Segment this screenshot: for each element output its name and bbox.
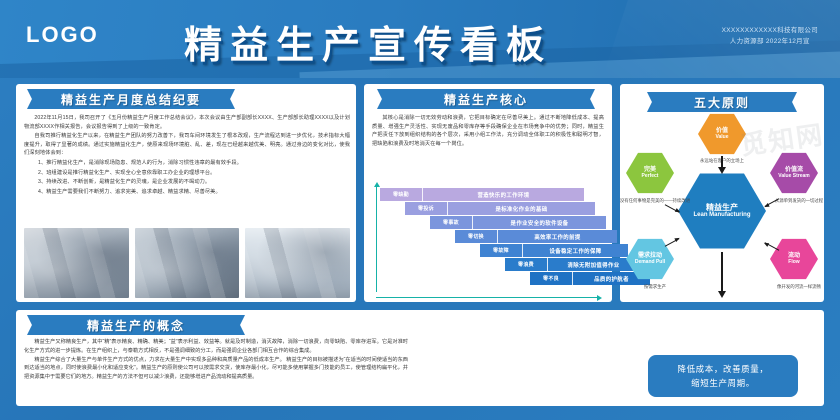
core-body: 其核心是消除一切无效劳动和浪费，它把目标确定在尽善尽美上。通过不断地降低成本、提… — [372, 114, 604, 149]
company-name: XXXXXXXXXXXX科技有限公司 — [722, 25, 818, 36]
conclusion-text: 降低成本，改善质量，缩短生产周期。 — [677, 362, 768, 390]
company-credit: XXXXXXXXXXXX科技有限公司 人力资源部 2022年12月宣 — [722, 25, 818, 47]
summary-paragraph: 2022年11月15日，我司召开了《五月份精益生产月度工作总结会议》，本次会议由… — [24, 114, 350, 131]
concept-paragraph: 精益生产又称精良生产，其中“精”表示精良、精确、精美；“益”表示利益、效益等。就… — [24, 338, 408, 356]
hex-center-cn: 精益生产 — [706, 203, 738, 212]
hex-value-stream-en: Value Stream — [778, 174, 809, 180]
flow-row-key: 零缺勤 — [380, 188, 422, 201]
hex-center-lean: 精益生产 Lean Manufacturing — [678, 172, 766, 250]
summary-list-item: 1、推行精益化生产，是消除现场隐患、规范人的行为，消除习惯性违章的最有效手段。 — [24, 159, 350, 168]
photo-gallery — [24, 228, 350, 298]
hex-value-en: Value — [715, 135, 728, 141]
caption-flow: 像开发的河流一样流畅 — [760, 284, 838, 291]
hex-value: 价值 Value — [698, 113, 746, 155]
flow-axis-vertical — [376, 186, 377, 292]
flow-row: 零事故是作业安全的软件设备 — [430, 216, 606, 229]
hex-perfect-en: Perfect — [642, 174, 659, 180]
flow-row-key: 零不良 — [530, 272, 572, 285]
arrow-value-to-center — [721, 156, 723, 168]
principles-heading: 五大原则 — [656, 92, 788, 112]
poster-board: LOGO 精益生产宣传看板 XXXXXXXXXXXX科技有限公司 人力资源部 2… — [0, 0, 840, 420]
arrow-demand-pull-to-center — [665, 238, 680, 246]
flow-row-key: 零切换 — [455, 230, 497, 243]
flow-axis-horizontal — [376, 297, 598, 298]
flow-row-value: 营造快乐的工作环境 — [422, 188, 584, 201]
hex-center-en: Lean Manufacturing — [693, 212, 750, 219]
flow-row: 零投诉是标准化作业的基础 — [405, 202, 595, 215]
summary-list-item: 2、班组建设是推行精益化生产、实现全心全意依靠职工办企业的理想平台。 — [24, 169, 350, 178]
concept-paragraph: 精益生产综合了大量生产与单件生产方式的优点，力求在大量生产中实现多品种和高质量产… — [24, 356, 408, 382]
flow-row-key: 零事故 — [430, 216, 472, 229]
flow-row: 零浪费清除无附加值得作业 — [505, 258, 639, 271]
poster-header: LOGO 精益生产宣传看板 XXXXXXXXXXXX科技有限公司 人力资源部 2… — [0, 0, 840, 78]
arrow-flow-to-center — [765, 242, 780, 250]
flow-row-value: 高效率工作的前提 — [497, 230, 617, 243]
caption-perfect: 没有任何事物是完美的——持续改进 — [616, 198, 694, 205]
summary-body: 2022年11月15日，我司召开了《五月份精益生产月度工作总结会议》，本次会议由… — [24, 114, 350, 197]
flow-row: 零故障设备稳定工作的保障 — [480, 244, 628, 257]
summary-list-item: 4、精益生产需要我们不断努力、追求完美、追求卓越、精益求精、尽善尽美。 — [24, 188, 350, 197]
arrow-perfect-to-center — [665, 204, 680, 212]
core-heading: 精益生产核心 — [386, 89, 586, 109]
summary-paragraph: 自我司推行精益化生产以来，在精益生产团队的努力改善下，我司车间环境发生了根本改观… — [24, 132, 350, 158]
hex-value-stream: 价值流 Value Stream — [770, 152, 818, 194]
flow-row: 零切换高效率工作的前提 — [455, 230, 617, 243]
flow-row-value: 是标准化作业的基础 — [447, 202, 595, 215]
department-date: 人力资源部 2022年12月宣 — [722, 36, 818, 47]
flow-row: 零缺勤营造快乐的工作环境 — [380, 188, 584, 201]
page-title: 精益生产宣传看板 — [184, 14, 552, 69]
arrow-center-to-conclusion — [721, 252, 723, 292]
flow-row-value: 设备稳定工作的保障 — [522, 244, 628, 257]
summary-list-item: 3、持续改进、不断创新，是精益化生产的灵魂，是企业发展的不竭动力。 — [24, 178, 350, 187]
hex-flow-en: Flow — [788, 260, 799, 266]
flow-row-key: 零浪费 — [505, 258, 547, 271]
caption-demand-pull: 按需求生产 — [616, 284, 694, 291]
flow-row-key: 零投诉 — [405, 202, 447, 215]
flow-row-key: 零故障 — [480, 244, 522, 257]
concept-heading: 精益生产的概念 — [36, 315, 236, 335]
conclusion-box: 降低成本，改善质量，缩短生产周期。 — [648, 355, 798, 397]
handshake-meeting-photo — [24, 228, 129, 298]
hex-demand-pull-en: Demand Pull — [635, 260, 665, 266]
logo: LOGO — [26, 22, 99, 48]
flow-row-value: 是作业安全的软件设备 — [472, 216, 606, 229]
conference-room-photo — [245, 228, 350, 298]
concept-body-left: 精益生产又称精良生产，其中“精”表示精良、精确、精美；“益”表示利益、效益等。就… — [24, 338, 408, 382]
blueprint-teamwork-photo — [135, 228, 240, 298]
five-principles-diagram: 精益生产 Lean Manufacturing 价值 Value 完美 Perf… — [620, 110, 824, 306]
core-paragraph: 其核心是消除一切无效劳动和浪费，它把目标确定在尽善尽美上。通过不断地降低成本、提… — [372, 114, 604, 148]
hex-flow: 流动 Flow — [770, 238, 818, 280]
hex-perfect: 完美 Perfect — [626, 152, 674, 194]
summary-heading: 精益生产月度总结纪要 — [36, 89, 226, 109]
zero-defect-flowchart: 零缺勤营造快乐的工作环境零投诉是标准化作业的基础零事故是作业安全的软件设备零切换… — [374, 186, 606, 298]
